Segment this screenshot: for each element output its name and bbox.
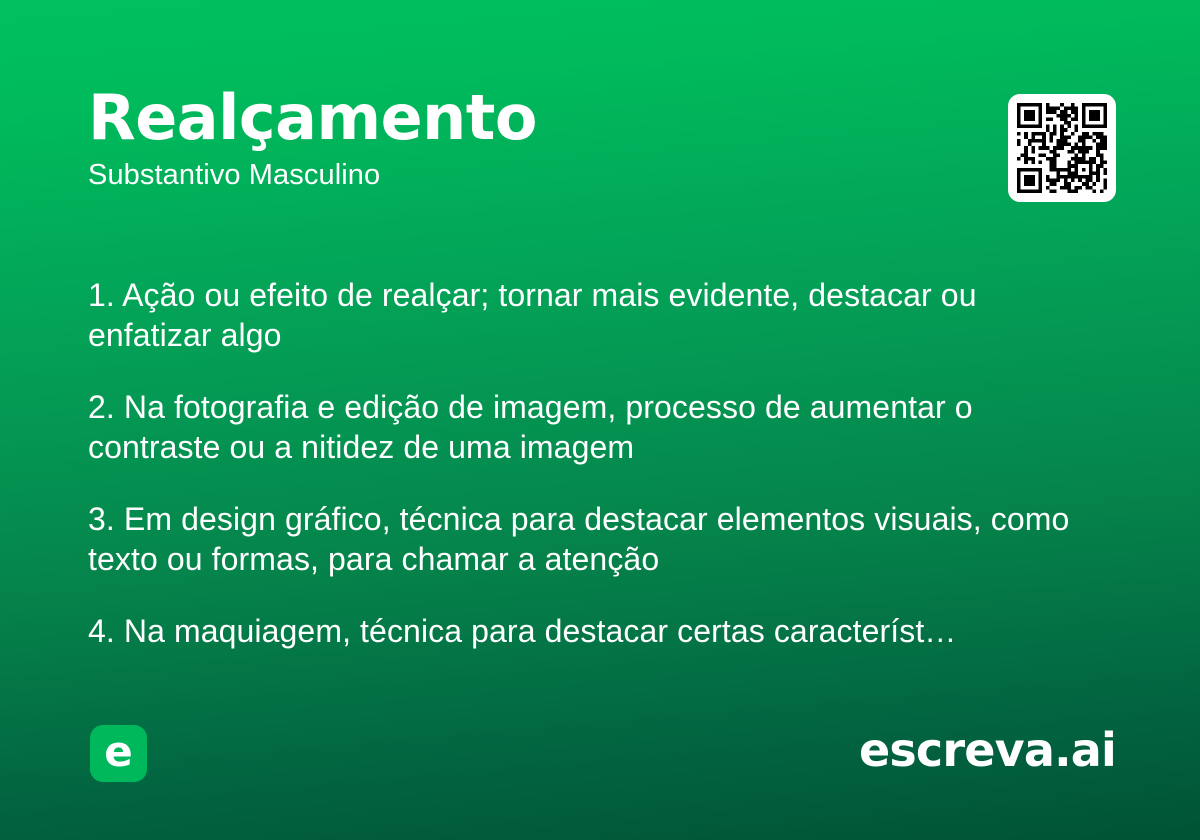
part-of-speech-label: Substantivo Masculino — [88, 158, 988, 192]
definition-item-4: 4. Na maquiagem, técnica para destacar c… — [88, 611, 1073, 651]
page-title: Realçamento — [88, 84, 988, 152]
definition-list: 1. Ação ou efeito de realçar; tornar mai… — [88, 243, 1073, 651]
brand-logo-letter: e — [104, 731, 133, 773]
definition-item-3: 3. Em design gráfico, técnica para desta… — [88, 499, 1073, 579]
card-header: Realçamento Substantivo Masculino — [88, 84, 988, 192]
qr-code-card[interactable] — [1008, 94, 1116, 202]
dictionary-card: Realçamento Substantivo Masculino 1. Açã… — [0, 0, 1200, 840]
definition-item-2: 2. Na fotografia e edição de imagem, pro… — [88, 387, 1073, 467]
brand-wordmark: escreva.ai — [859, 722, 1116, 778]
brand-logo-icon: e — [90, 725, 147, 782]
definition-item-1: 1. Ação ou efeito de realçar; tornar mai… — [88, 275, 1073, 355]
qr-code-icon — [1017, 103, 1107, 193]
